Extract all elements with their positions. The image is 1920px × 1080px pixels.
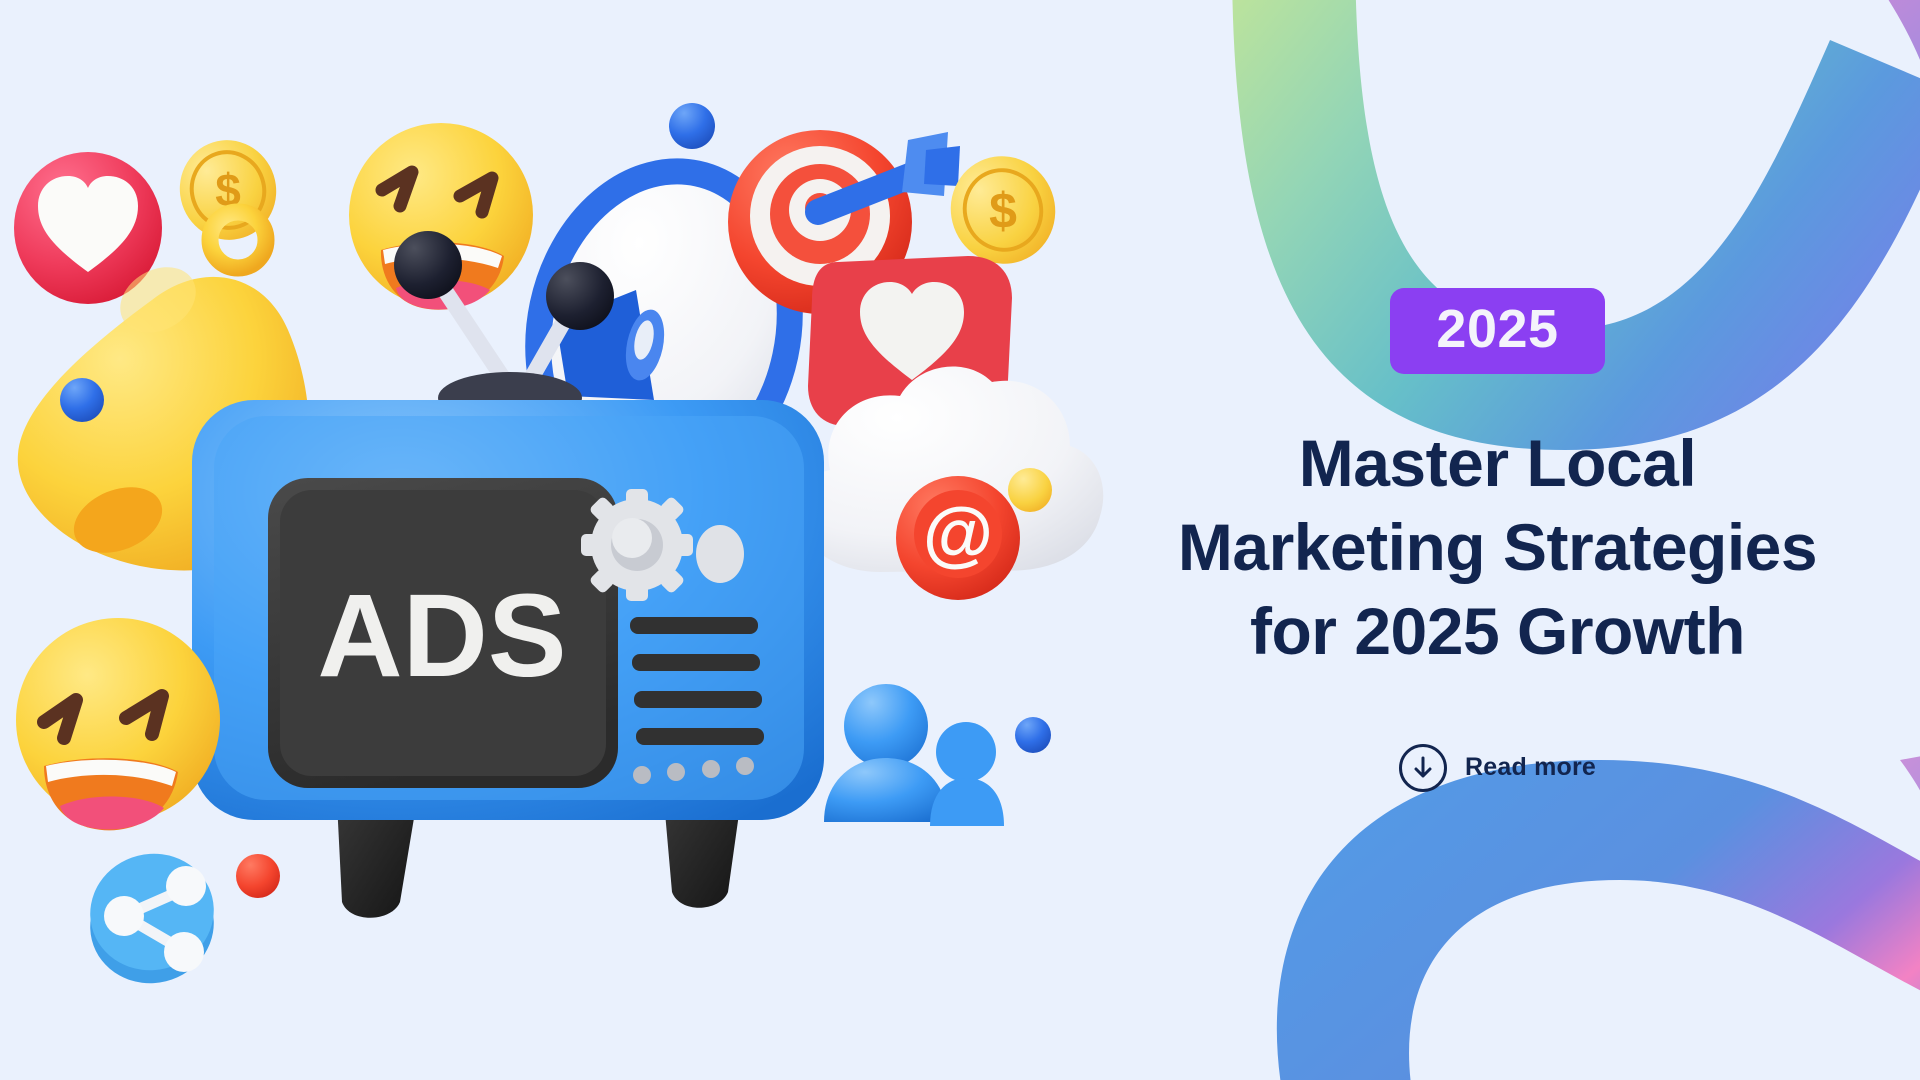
svg-text:@: @ (923, 494, 993, 574)
page-title: Master Local Marketing Strategies for 20… (1178, 422, 1817, 673)
banner-content: 2025 Master Local Marketing Strategies f… (1075, 0, 1920, 1080)
email-at-icon: @ (896, 476, 1020, 600)
year-badge: 2025 (1390, 288, 1604, 374)
bar-4 (636, 728, 764, 745)
marketing-banner: $ (0, 0, 1920, 1080)
people-group-icon (824, 684, 1004, 826)
bar-3 (634, 691, 762, 708)
sphere-blue-mid (669, 103, 715, 149)
dot-3 (702, 760, 720, 778)
svg-text:$: $ (989, 183, 1017, 239)
sphere-red (236, 854, 280, 898)
illustration-3d-icons: $ (0, 0, 1120, 1080)
bar-1 (630, 617, 758, 634)
dot-4 (736, 757, 754, 775)
headline-line-1: Master Local (1178, 422, 1817, 506)
ads-broadcast-device[interactable]: ADS (192, 400, 824, 918)
dot-1 (633, 766, 651, 784)
arrow-down-circle-icon (1399, 744, 1447, 792)
dot-2 (667, 763, 685, 781)
device-screen-label: ADS (317, 570, 566, 702)
gear-icon (581, 489, 693, 601)
read-more-button[interactable]: Read more (1399, 744, 1596, 792)
read-more-label: Read more (1465, 753, 1596, 782)
sphere-blue-small (60, 378, 104, 422)
bar-2 (632, 654, 760, 671)
headline-line-2: Marketing Strategies (1178, 506, 1817, 590)
share-icon-disc (78, 841, 226, 997)
laughing-emoji-bottom (16, 618, 220, 830)
headline-line-3: for 2025 Growth (1178, 590, 1817, 674)
round-button[interactable] (696, 525, 744, 583)
sphere-blue-tiny (1015, 717, 1051, 753)
sphere-yellow (1008, 468, 1052, 512)
